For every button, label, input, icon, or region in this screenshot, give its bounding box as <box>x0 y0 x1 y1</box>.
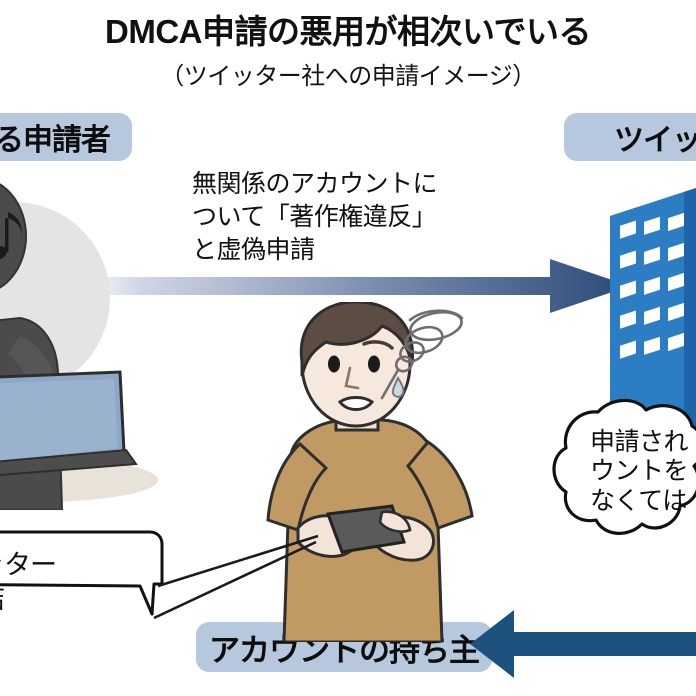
label-twitter-company-text: ツイッ <box>614 115 696 159</box>
laptop-icon <box>0 372 136 480</box>
false-claim-line-2: ついて「著作権違反」 <box>192 201 522 234</box>
office-building-icon <box>576 188 696 428</box>
infographic-canvas: DMCA申請の悪用が相次いでいる （ツイッター社への申請イメージ） <box>0 0 696 696</box>
false-claim-line-3: と虚偽申請 <box>192 234 522 267</box>
eye-left <box>328 356 340 373</box>
title-block: DMCA申請の悪用が相次いでいる （ツイッター社への申請イメージ） <box>0 14 696 91</box>
account-frozen-callout-text: ツイッター を凍結 <box>0 548 146 616</box>
page-subtitle: （ツイッター社への申請イメージ） <box>0 56 696 91</box>
arrow-twitter-to-owner <box>470 430 696 680</box>
false-claim-line-1: 無関係のアカウントに <box>192 168 522 201</box>
callout-line-2: を凍結 <box>0 582 146 616</box>
page-title: DMCA申請の悪用が相次いでいる <box>0 14 696 50</box>
troubled-spiral-icon <box>378 306 474 402</box>
false-claim-description: 無関係のアカウントに ついて「著作権違反」 と虚偽申請 <box>192 168 522 267</box>
label-twitter-company: ツイッ <box>564 113 696 161</box>
callout-pointer-lines <box>140 518 340 628</box>
illustration-false-applicant <box>0 150 158 510</box>
callout-line-1: ツイッター <box>0 548 146 582</box>
